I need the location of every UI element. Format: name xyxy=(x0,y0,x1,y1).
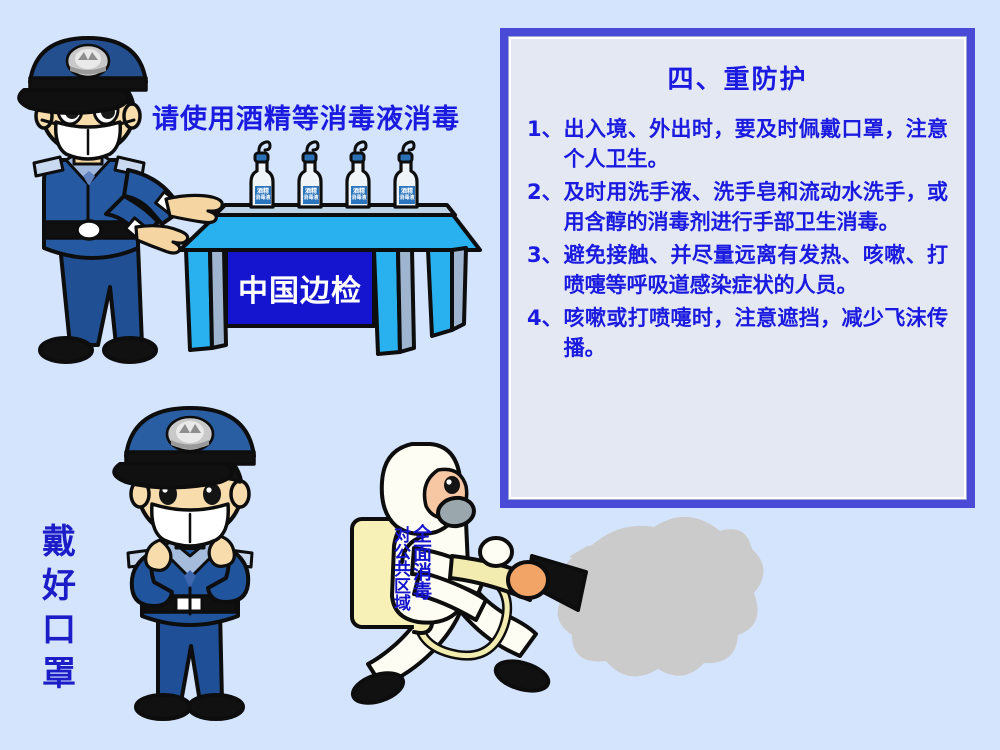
panel-item-text: 咳嗽或打喷嚏时，注意遮挡，减少飞沫传播。 xyxy=(564,303,948,363)
bottle-label: 酒精 消毒液 xyxy=(351,186,367,204)
police-cap xyxy=(19,38,146,113)
panel-item-number: 3、 xyxy=(527,240,564,300)
desk-banner: 中国边检 xyxy=(226,250,374,326)
protection-info-panel: 四、重防护 1、 出入境、外出时，要及时佩戴口罩，注意个人卫生。 2、 及时用洗… xyxy=(500,28,975,508)
bottle-label: 酒精 消毒液 xyxy=(303,186,319,204)
bottle-label-line-2: 消毒液 xyxy=(351,195,366,202)
bottle-label-line-1: 酒精 xyxy=(401,188,413,195)
bottle-label-line-2: 消毒液 xyxy=(303,195,318,202)
panel-item-list: 1、 出入境、外出时，要及时佩戴口罩，注意个人卫生。 2、 及时用洗手液、洗手皂… xyxy=(527,114,948,487)
panel-item-number: 4、 xyxy=(527,303,564,363)
bottle-label: 酒精 消毒液 xyxy=(255,186,271,204)
bottle-label: 酒精 消毒液 xyxy=(399,186,415,204)
disinfectant-mist xyxy=(558,517,764,676)
officer-mask-figure xyxy=(114,408,254,719)
panel-item-text: 及时用洗手液、洗手皂和流动水洗手，或用含醇的消毒剂进行手部卫生消毒。 xyxy=(564,177,948,237)
panel-item-number: 2、 xyxy=(527,177,564,237)
panel-item-text: 避免接触、并尽量远离有发热、咳嗽、打喷嚏等呼吸道感染症状的人员。 xyxy=(564,240,948,300)
police-cap xyxy=(114,408,254,488)
poster-canvas: 请使用酒精等消毒液消毒 戴 好 口 罩 中国边检 酒精 消毒液 酒精 消毒液 酒… xyxy=(0,0,1000,750)
vertical-slogan: 戴 好 口 罩 xyxy=(42,520,76,696)
headline-text: 请使用酒精等消毒液消毒 xyxy=(152,97,460,136)
panel-title: 四、重防护 xyxy=(527,59,948,96)
panel-item: 2、 及时用洗手液、洗手皂和流动水洗手，或用含醇的消毒剂进行手部卫生消毒。 xyxy=(527,177,948,237)
bottle-label-line-1: 酒精 xyxy=(257,188,269,195)
panel-inner: 四、重防护 1、 出入境、外出时，要及时佩戴口罩，注意个人卫生。 2、 及时用洗… xyxy=(509,37,966,499)
panel-item: 1、 出入境、外出时，要及时佩戴口罩，注意个人卫生。 xyxy=(527,114,948,174)
panel-item-text: 出入境、外出时，要及时佩戴口罩，注意个人卫生。 xyxy=(564,114,948,174)
vertical-slogan-char-3: 口 xyxy=(42,608,76,652)
panel-item-number: 1、 xyxy=(527,114,564,174)
bottle-label-line-1: 酒精 xyxy=(353,188,365,195)
bottle-label-line-2: 消毒液 xyxy=(255,195,270,202)
bottle-label-line-1: 酒精 xyxy=(305,188,317,195)
vertical-slogan-char-1: 戴 xyxy=(42,520,76,564)
vertical-slogan-char-2: 好 xyxy=(42,564,76,608)
vertical-slogan-char-4: 罩 xyxy=(42,652,76,696)
sprayer-sign-text: 全面消毒 对公共区域 xyxy=(358,524,430,622)
panel-item: 4、 咳嗽或打喷嚏时，注意遮挡，减少飞沫传播。 xyxy=(527,303,948,363)
desk-banner-label: 中国边检 xyxy=(238,266,362,310)
sprayer-sign-right-column: 全面消毒 xyxy=(411,524,430,622)
bottle-label-line-2: 消毒液 xyxy=(399,195,414,202)
disinfectant-bottles xyxy=(251,142,417,207)
sprayer-sign-left-column: 对公共区域 xyxy=(391,526,409,622)
panel-item: 3、 避免接触、并尽量远离有发热、咳嗽、打喷嚏等呼吸道感染症状的人员。 xyxy=(527,240,948,300)
